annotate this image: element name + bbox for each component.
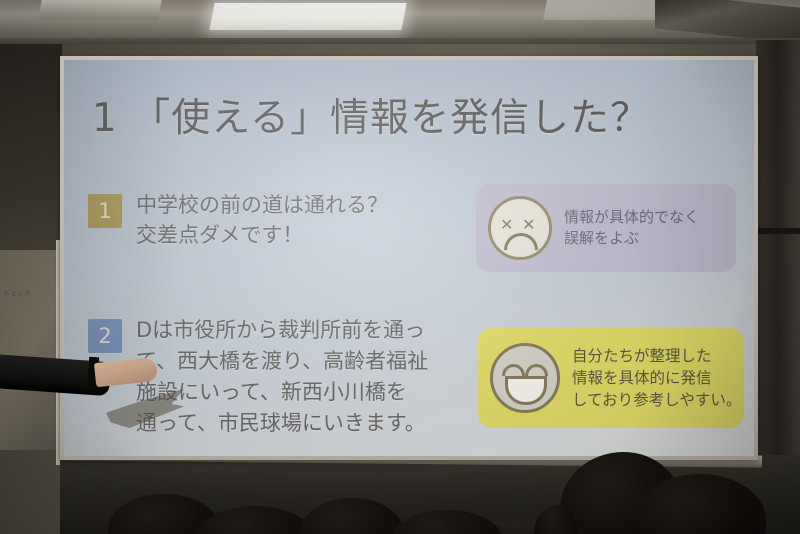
callout-positive-line-2: 情報を具体的に発信 xyxy=(572,367,741,389)
whiteboard-scribble: チェック xyxy=(3,290,31,300)
happy-face-smile-icon xyxy=(505,376,547,405)
wall-right-shadow xyxy=(756,40,800,460)
point-2-line-3: 施設にいって、新西小川橋を xyxy=(136,377,454,408)
point-text-1: 中学校の前の道は通れる？ 交差点ダメです！ xyxy=(136,190,454,250)
callout-negative-text: 情報が具体的でなく 誤解をよぶ xyxy=(564,207,699,249)
point-badge-2: 2 xyxy=(88,319,122,353)
point-1-line-1: 中学校の前の道は通れる？ xyxy=(136,190,454,220)
wall-right-molding xyxy=(756,228,800,234)
ceiling-vent xyxy=(38,0,162,20)
side-whiteboard: チェック xyxy=(0,250,60,450)
sad-face-frown-icon xyxy=(504,233,538,250)
happy-face-icon xyxy=(490,343,560,413)
sad-face-left-eye-icon: ✕ xyxy=(500,217,513,233)
point-badge-1: 1 xyxy=(88,194,122,228)
callout-negative-line-2: 誤解をよぶ xyxy=(564,228,699,249)
point-2-line-1: Dは市役所から裁判所前を通っ xyxy=(136,315,454,346)
point-1-line-2: 交差点ダメです！ xyxy=(136,220,454,250)
callout-positive-line-1: 自分たちが整理した xyxy=(572,345,741,367)
happy-face-right-eye-icon xyxy=(525,364,548,376)
point-text-2: Dは市役所から裁判所前を通っ て、西大橋を渡り、高齢者福祉 施設にいって、新西小… xyxy=(136,315,454,439)
ceiling-light-panel-secondary xyxy=(543,0,667,20)
point-2-line-2: て、西大橋を渡り、高齢者福祉 xyxy=(136,346,454,377)
classroom-photo: チェック 1 「使える」情報を発信した？ 1 中学校の前の道は通れる？ 交差点ダ… xyxy=(0,0,800,534)
callout-negative: ✕ ✕ 情報が具体的でなく 誤解をよぶ xyxy=(476,184,736,272)
callout-positive: 自分たちが整理した 情報を具体的に発信 しており参考しやすい。 xyxy=(478,328,744,428)
ceiling-light-panel xyxy=(209,3,406,30)
slide-title: 1 「使える」情報を発信した？ xyxy=(92,96,712,142)
callout-positive-line-3: しており参考しやすい。 xyxy=(572,389,741,411)
slide-point-1: 1 中学校の前の道は通れる？ 交差点ダメです！ xyxy=(88,190,454,250)
happy-face-left-eye-icon xyxy=(502,364,525,376)
callout-negative-line-1: 情報が具体的でなく xyxy=(564,207,699,228)
sad-face-icon: ✕ ✕ xyxy=(488,196,552,260)
sad-face-right-eye-icon: ✕ xyxy=(522,217,535,233)
callout-positive-text: 自分たちが整理した 情報を具体的に発信 しており参考しやすい。 xyxy=(572,345,741,411)
point-2-line-4: 通って、市民球場にいきます。 xyxy=(136,408,454,439)
